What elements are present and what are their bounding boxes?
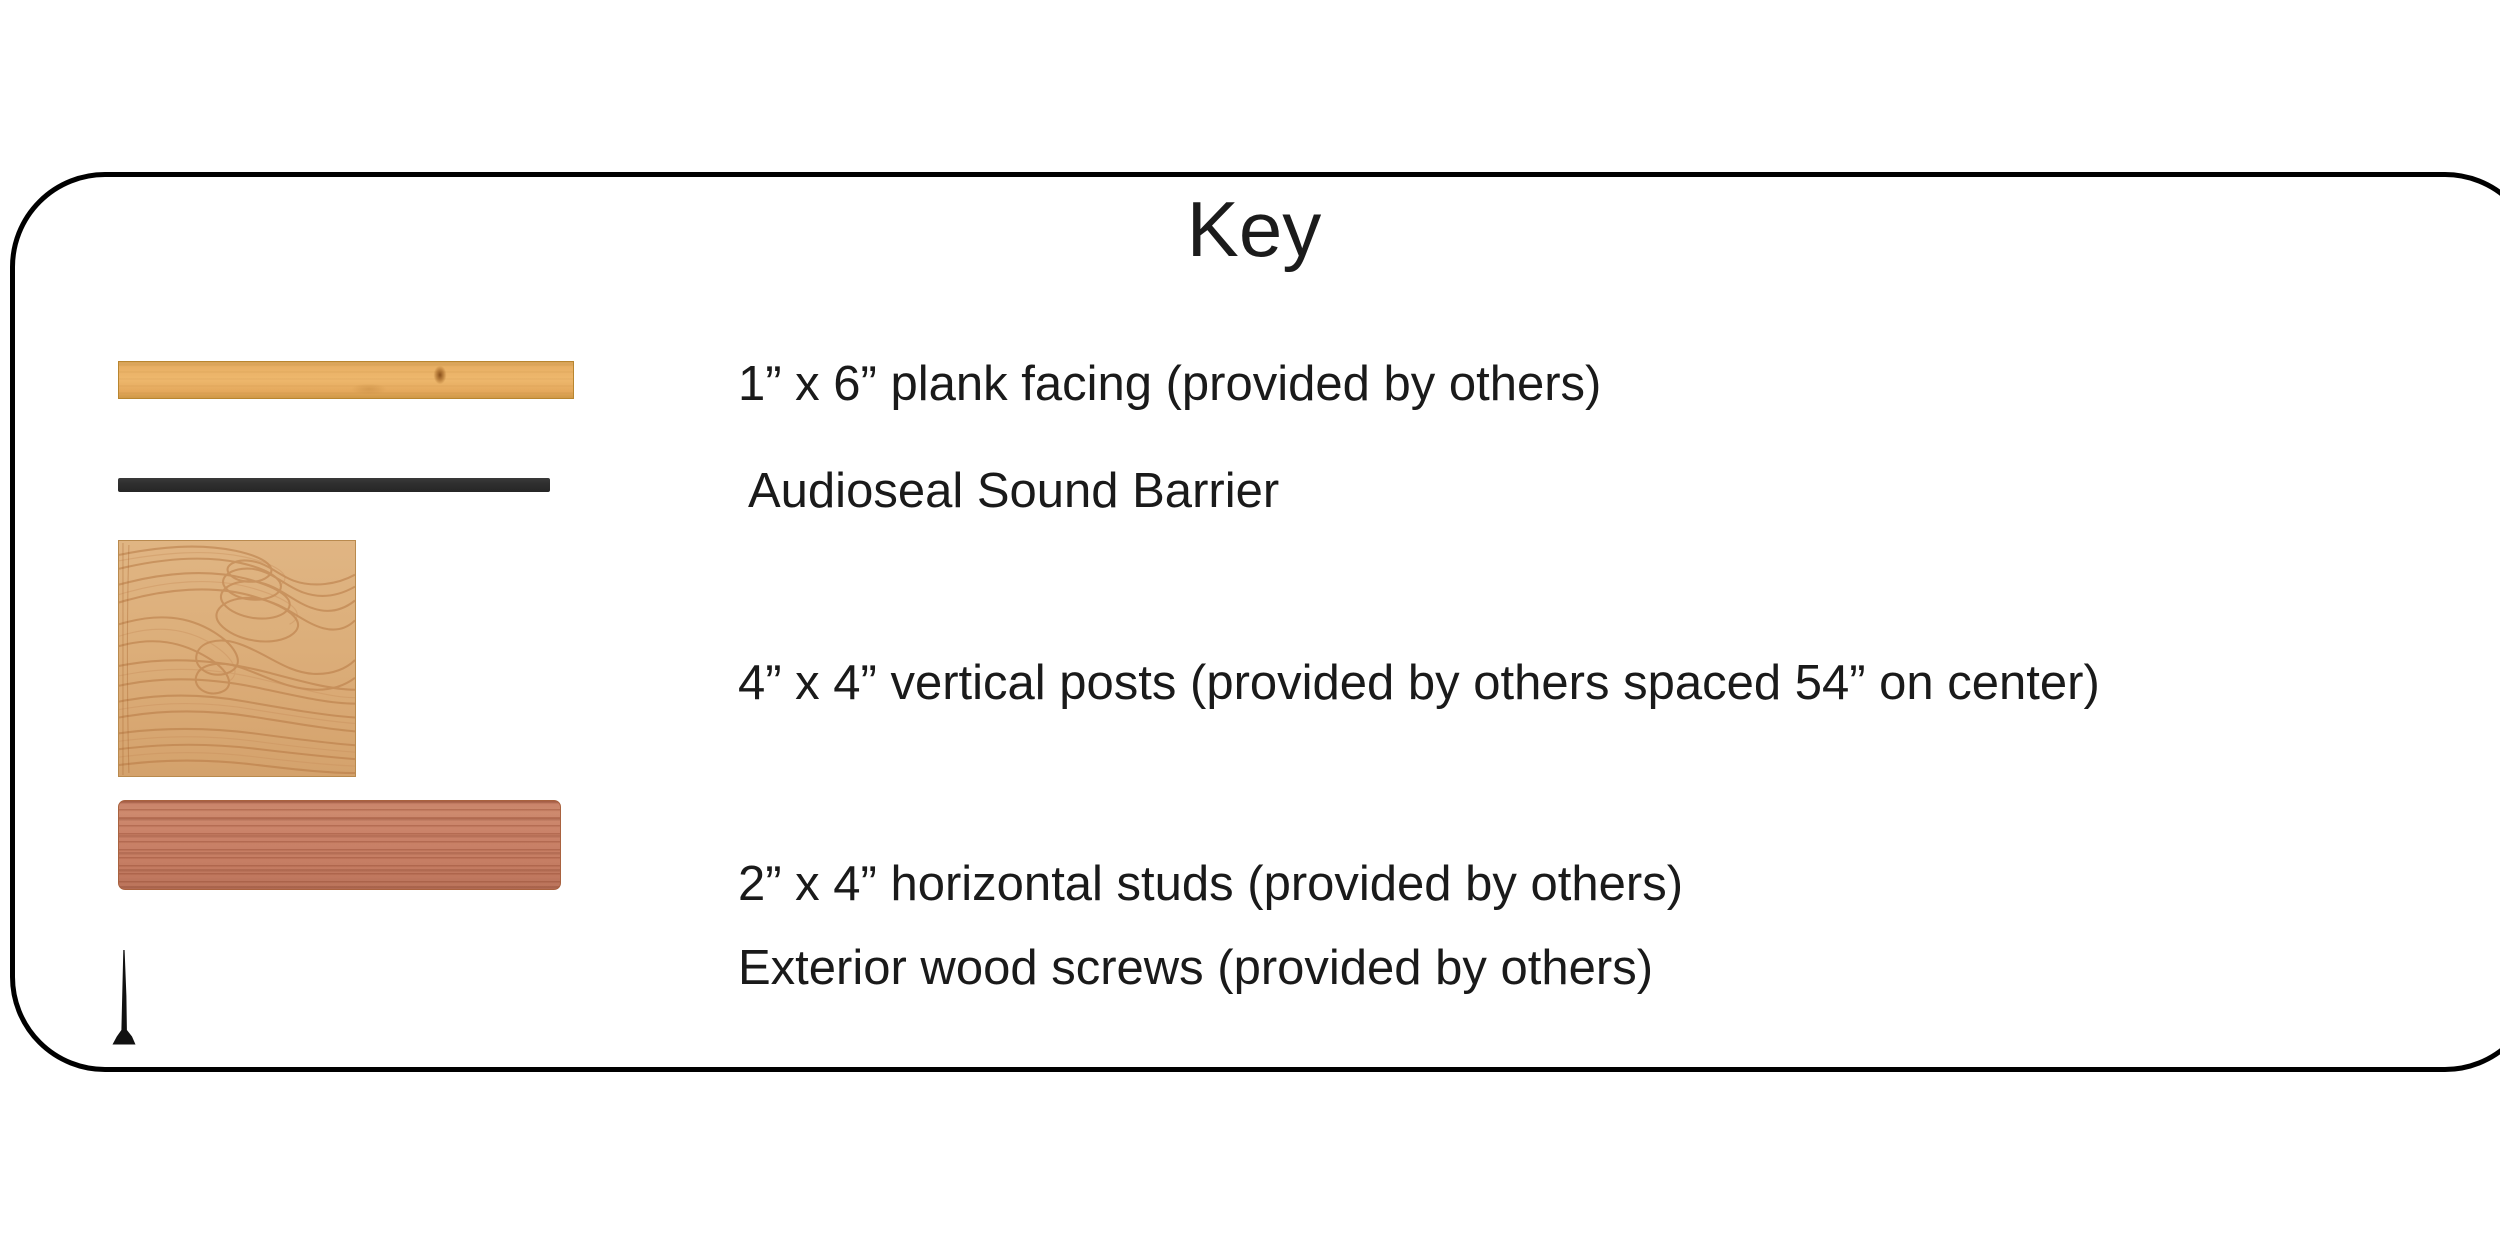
legend-label-plank-facing: 1” x 6” plank facing (provided by others… xyxy=(738,358,1601,410)
key-title-text: Key xyxy=(1187,190,1321,268)
screw-icon xyxy=(100,948,148,1050)
screw-silhouette xyxy=(100,948,148,1050)
legend-label-wood-screws: Exterior wood screws (provided by others… xyxy=(738,942,1653,994)
legend-label-sound-barrier: Audioseal Sound Barrier xyxy=(748,465,1279,517)
wood-stud-swatch xyxy=(118,800,561,890)
post-grain-pattern xyxy=(119,541,355,776)
wood-plank-swatch xyxy=(118,361,574,399)
legend-label-vertical-posts: 4” x 4” vertical posts (provided by othe… xyxy=(738,657,2100,709)
key-panel xyxy=(10,172,2500,1072)
wood-post-swatch xyxy=(118,540,356,777)
page-title: Key xyxy=(0,190,2500,268)
barrier-bar-swatch xyxy=(118,478,550,492)
legend-label-horizontal-studs: 2” x 4” horizontal studs (provided by ot… xyxy=(738,858,1683,910)
